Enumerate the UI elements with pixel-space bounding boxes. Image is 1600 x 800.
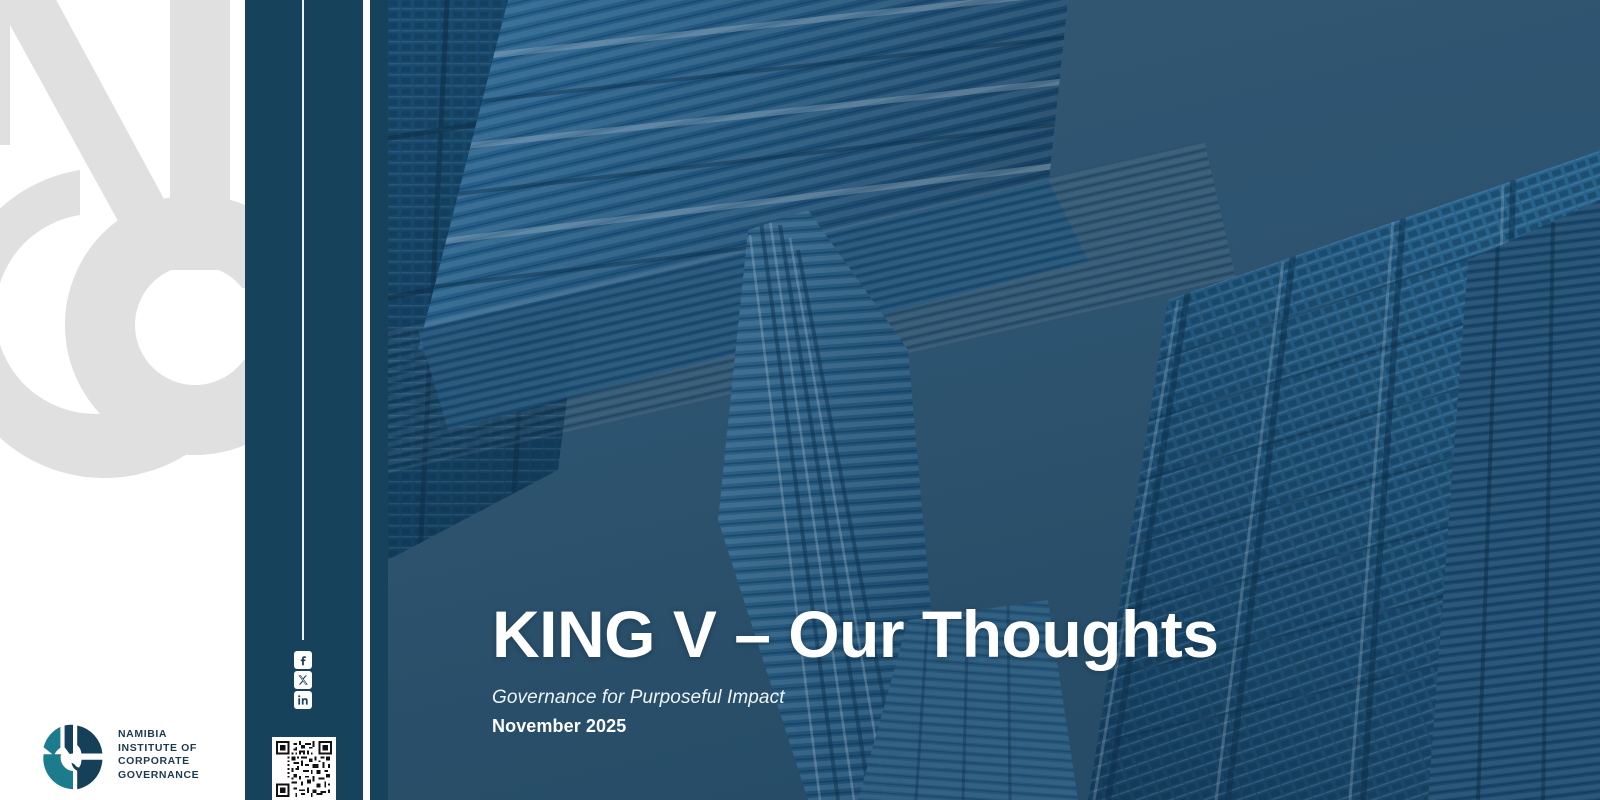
- title-slide: NAMIBIA INSTITUTE OF CORPORATE GOVERNANC…: [0, 0, 1600, 800]
- logo-line-2: INSTITUTE OF: [118, 742, 199, 756]
- x-twitter-icon[interactable]: [294, 671, 312, 689]
- qr-code[interactable]: [272, 737, 336, 800]
- nicg-logo: NAMIBIA INSTITUTE OF CORPORATE GOVERNANC…: [38, 722, 199, 792]
- vertical-rule: [302, 0, 304, 640]
- panel-white-gap: [363, 0, 370, 800]
- logo-line-4: GOVERNANCE: [118, 769, 199, 783]
- nicg-logo-mark-icon: [38, 722, 108, 792]
- nicg-watermark-icon: [0, 0, 245, 500]
- nicg-logo-text: NAMIBIA INSTITUTE OF CORPORATE GOVERNANC…: [118, 722, 199, 782]
- page-date: November 2025: [492, 714, 1492, 738]
- linkedin-icon[interactable]: [294, 691, 312, 709]
- logo-line-1: NAMIBIA: [118, 728, 199, 742]
- page-title: KING V – Our Thoughts: [492, 598, 1492, 670]
- navy-accent-bar: [370, 0, 388, 800]
- left-white-panel: [0, 0, 245, 800]
- social-icon-group: [293, 651, 313, 709]
- title-block: KING V – Our Thoughts Governance for Pur…: [492, 598, 1492, 738]
- page-subtitle: Governance for Purposeful Impact: [492, 686, 1492, 710]
- facebook-icon[interactable]: [294, 651, 312, 669]
- logo-line-3: CORPORATE: [118, 755, 199, 769]
